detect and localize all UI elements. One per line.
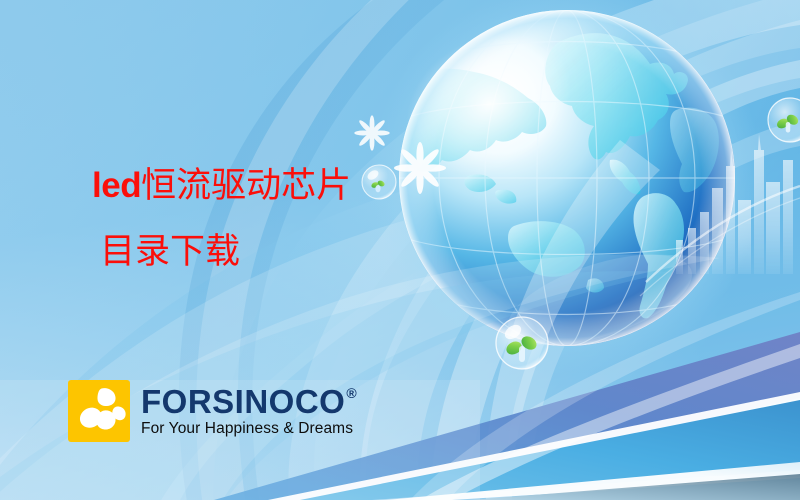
headline: led恒流驱动芯片 目录下载 <box>88 168 351 270</box>
promotional-banner: led恒流驱动芯片 目录下载 FORSINOCO ® For Your Happ… <box>0 0 800 500</box>
headline-latin: led <box>92 166 141 205</box>
logo-wordmark-text: FORSINOCO <box>141 385 345 418</box>
company-logo: FORSINOCO ® For Your Happiness & Dreams <box>68 380 357 442</box>
headline-cjk: 恒流驱动芯片 <box>141 166 351 206</box>
forsinoco-pinwheel-mark <box>68 380 130 442</box>
logo-text-block: FORSINOCO ® For Your Happiness & Dreams <box>141 385 357 437</box>
registered-trademark-icon: ® <box>346 386 357 400</box>
headline-line-1: led恒流驱动芯片 <box>88 168 351 204</box>
headline-line-2: 目录下载 <box>88 235 351 270</box>
logo-tagline: For Your Happiness & Dreams <box>141 421 357 437</box>
pinwheel-petals-icon <box>68 380 130 442</box>
logo-wordmark-row: FORSINOCO ® <box>141 385 357 418</box>
